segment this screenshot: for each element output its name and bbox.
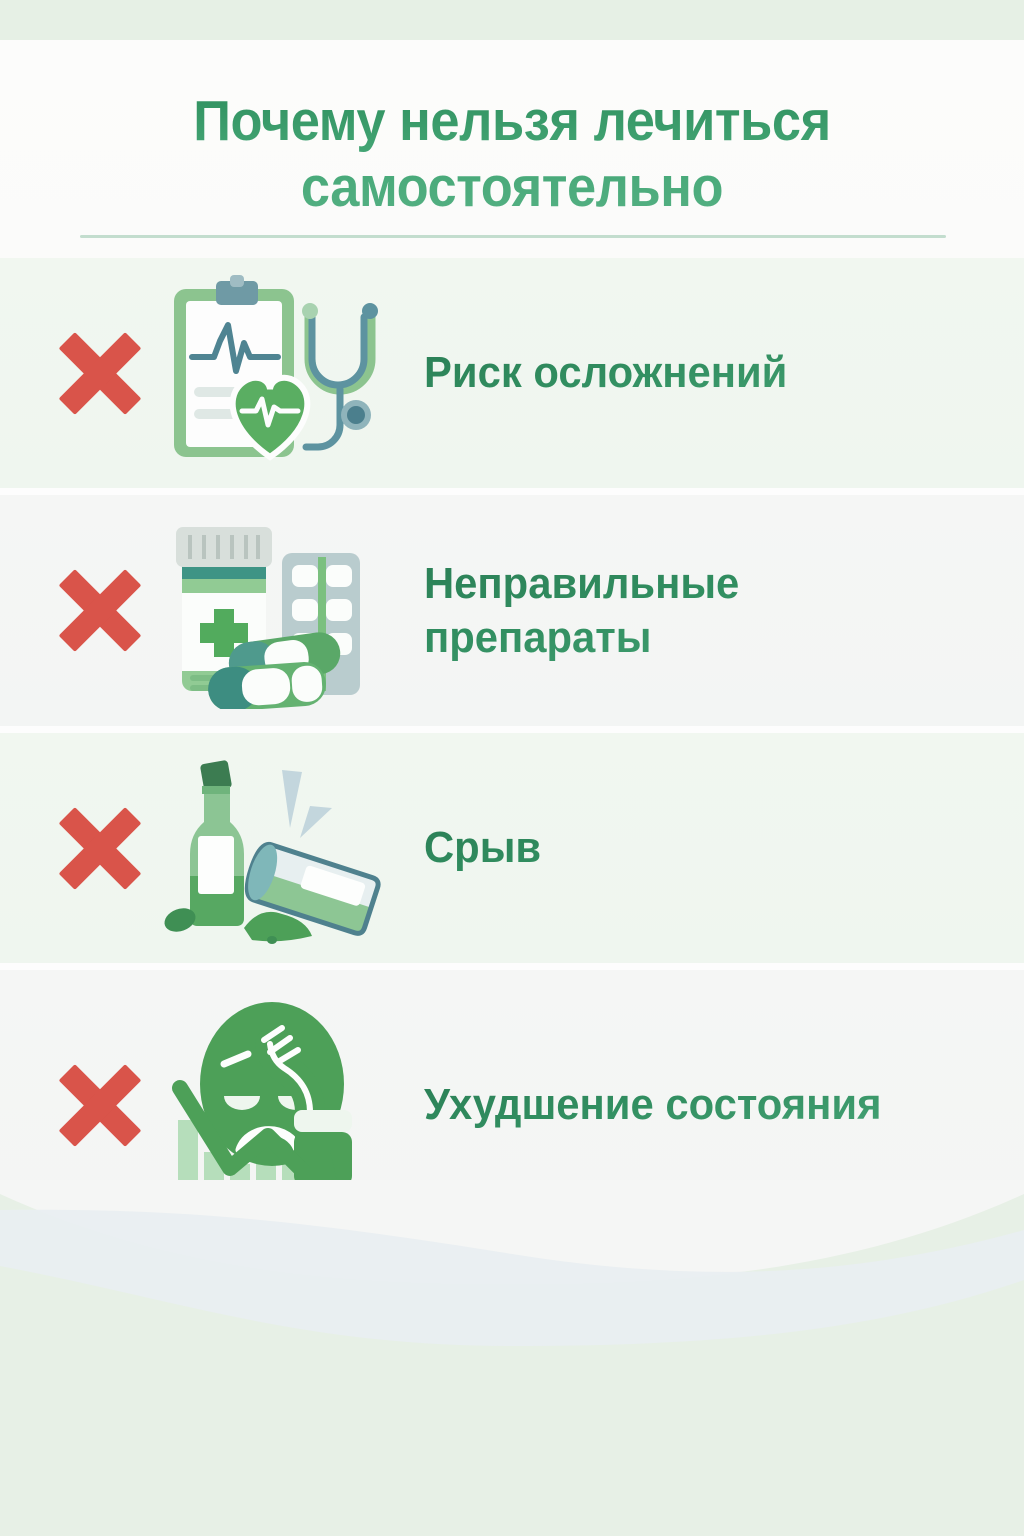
list-item[interactable]: Срыв — [0, 733, 1024, 970]
page-title: Почему нельзя лечиться самостоятельно — [96, 88, 928, 220]
list-item[interactable]: Риск осложнений — [0, 258, 1024, 495]
red-cross-icon — [52, 1057, 148, 1153]
reason-list: Риск осложнений — [0, 258, 1024, 1240]
list-item-label: Неправильные препараты — [424, 557, 994, 665]
list-item[interactable]: Ухудшение состояния — [0, 970, 1024, 1240]
red-cross-icon — [52, 325, 148, 421]
red-cross-icon — [52, 800, 148, 896]
bottle-spilled-glass-icon — [158, 748, 388, 948]
header: Почему нельзя лечиться самостоятельно — [0, 40, 1024, 258]
red-cross-icon — [52, 563, 148, 659]
poster-root: Почему нельзя лечиться самостоятельно — [0, 0, 1024, 1536]
list-item-label: Ухудшение состояния — [424, 1078, 994, 1132]
pill-bottle-blister-capsules-icon — [158, 511, 388, 711]
clipboard-heart-stethoscope-icon — [158, 273, 388, 473]
sad-face-falling-chart-icon — [158, 990, 388, 1220]
list-item-label: Риск осложнений — [424, 346, 994, 400]
list-item-label: Срыв — [424, 821, 994, 875]
content-card: Почему нельзя лечиться самостоятельно — [0, 40, 1024, 1245]
list-item[interactable]: Неправильные препараты — [0, 495, 1024, 733]
title-divider — [80, 235, 946, 238]
